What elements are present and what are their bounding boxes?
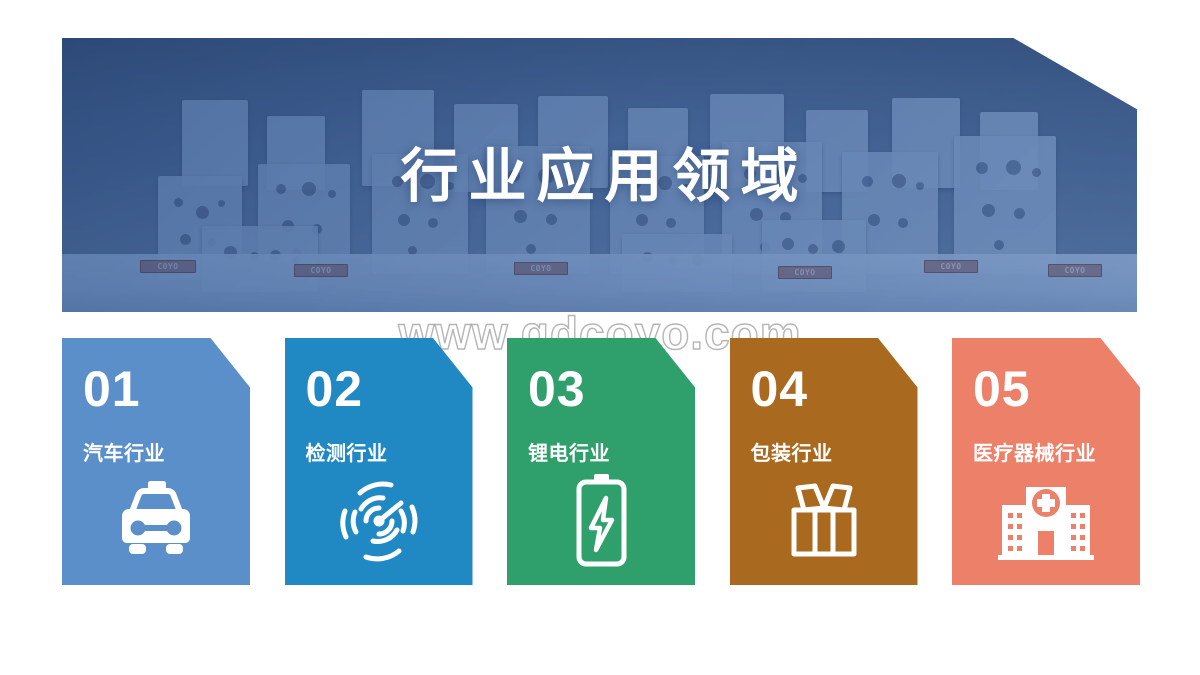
card-label: 汽车行业: [83, 437, 165, 466]
radar-detection-icon: [285, 466, 473, 585]
open-box-icon: [730, 466, 918, 585]
card-label: 检测行业: [306, 437, 388, 466]
card-number: 01: [83, 364, 141, 414]
industry-card-lithium-battery[interactable]: 03 锂电行业: [507, 338, 695, 585]
industry-card-list: 01 汽车行业 02 检测行业: [62, 338, 1140, 585]
battery-bolt-icon: [507, 466, 695, 585]
card-label: 医疗器械行业: [973, 437, 1096, 466]
page-title: 行业应用领域: [62, 38, 1137, 312]
industry-card-automotive[interactable]: 01 汽车行业: [62, 338, 250, 585]
card-number: 05: [973, 364, 1031, 414]
card-label: 锂电行业: [528, 437, 610, 466]
slide-canvas: COYO COYO COYO COYO COYO COYO 行业应用领域 www…: [0, 0, 1200, 675]
industry-card-packaging[interactable]: 04 包装行业: [730, 338, 918, 585]
card-label: 包装行业: [751, 437, 833, 466]
hospital-icon: [952, 466, 1140, 585]
card-number: 04: [751, 364, 809, 414]
hero-banner: COYO COYO COYO COYO COYO COYO 行业应用领域: [62, 38, 1137, 312]
car-icon: [62, 466, 250, 585]
card-number: 03: [528, 364, 586, 414]
card-number: 02: [306, 364, 364, 414]
industry-card-medical-device[interactable]: 05 医疗器械行业: [952, 338, 1140, 585]
industry-card-inspection[interactable]: 02 检测行业: [285, 338, 473, 585]
